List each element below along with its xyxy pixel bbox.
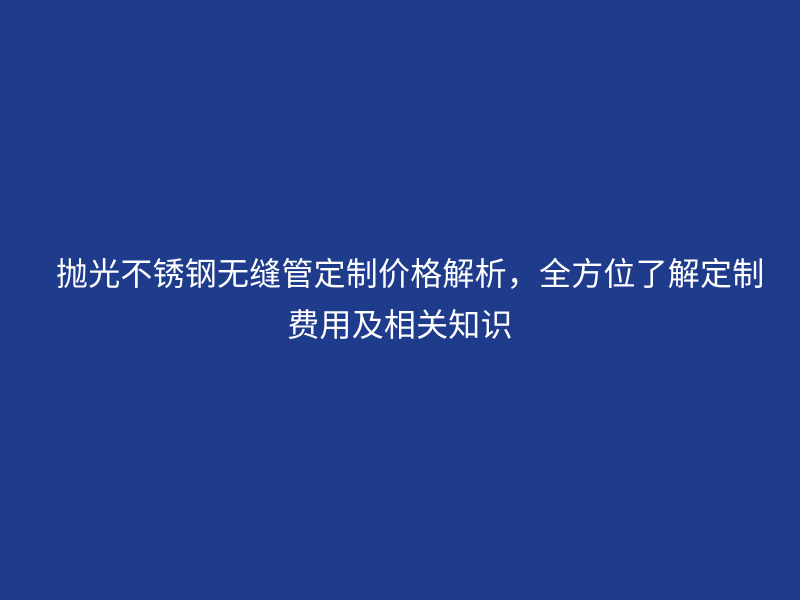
banner-title-line-2: 费用及相关知识 [56, 300, 744, 351]
title-banner: 抛光不锈钢无缝管定制价格解析，全方位了解定制 费用及相关知识 [0, 0, 800, 600]
banner-title-line-1: 抛光不锈钢无缝管定制价格解析，全方位了解定制 [56, 249, 744, 300]
banner-title-block: 抛光不锈钢无缝管定制价格解析，全方位了解定制 费用及相关知识 [50, 249, 750, 351]
